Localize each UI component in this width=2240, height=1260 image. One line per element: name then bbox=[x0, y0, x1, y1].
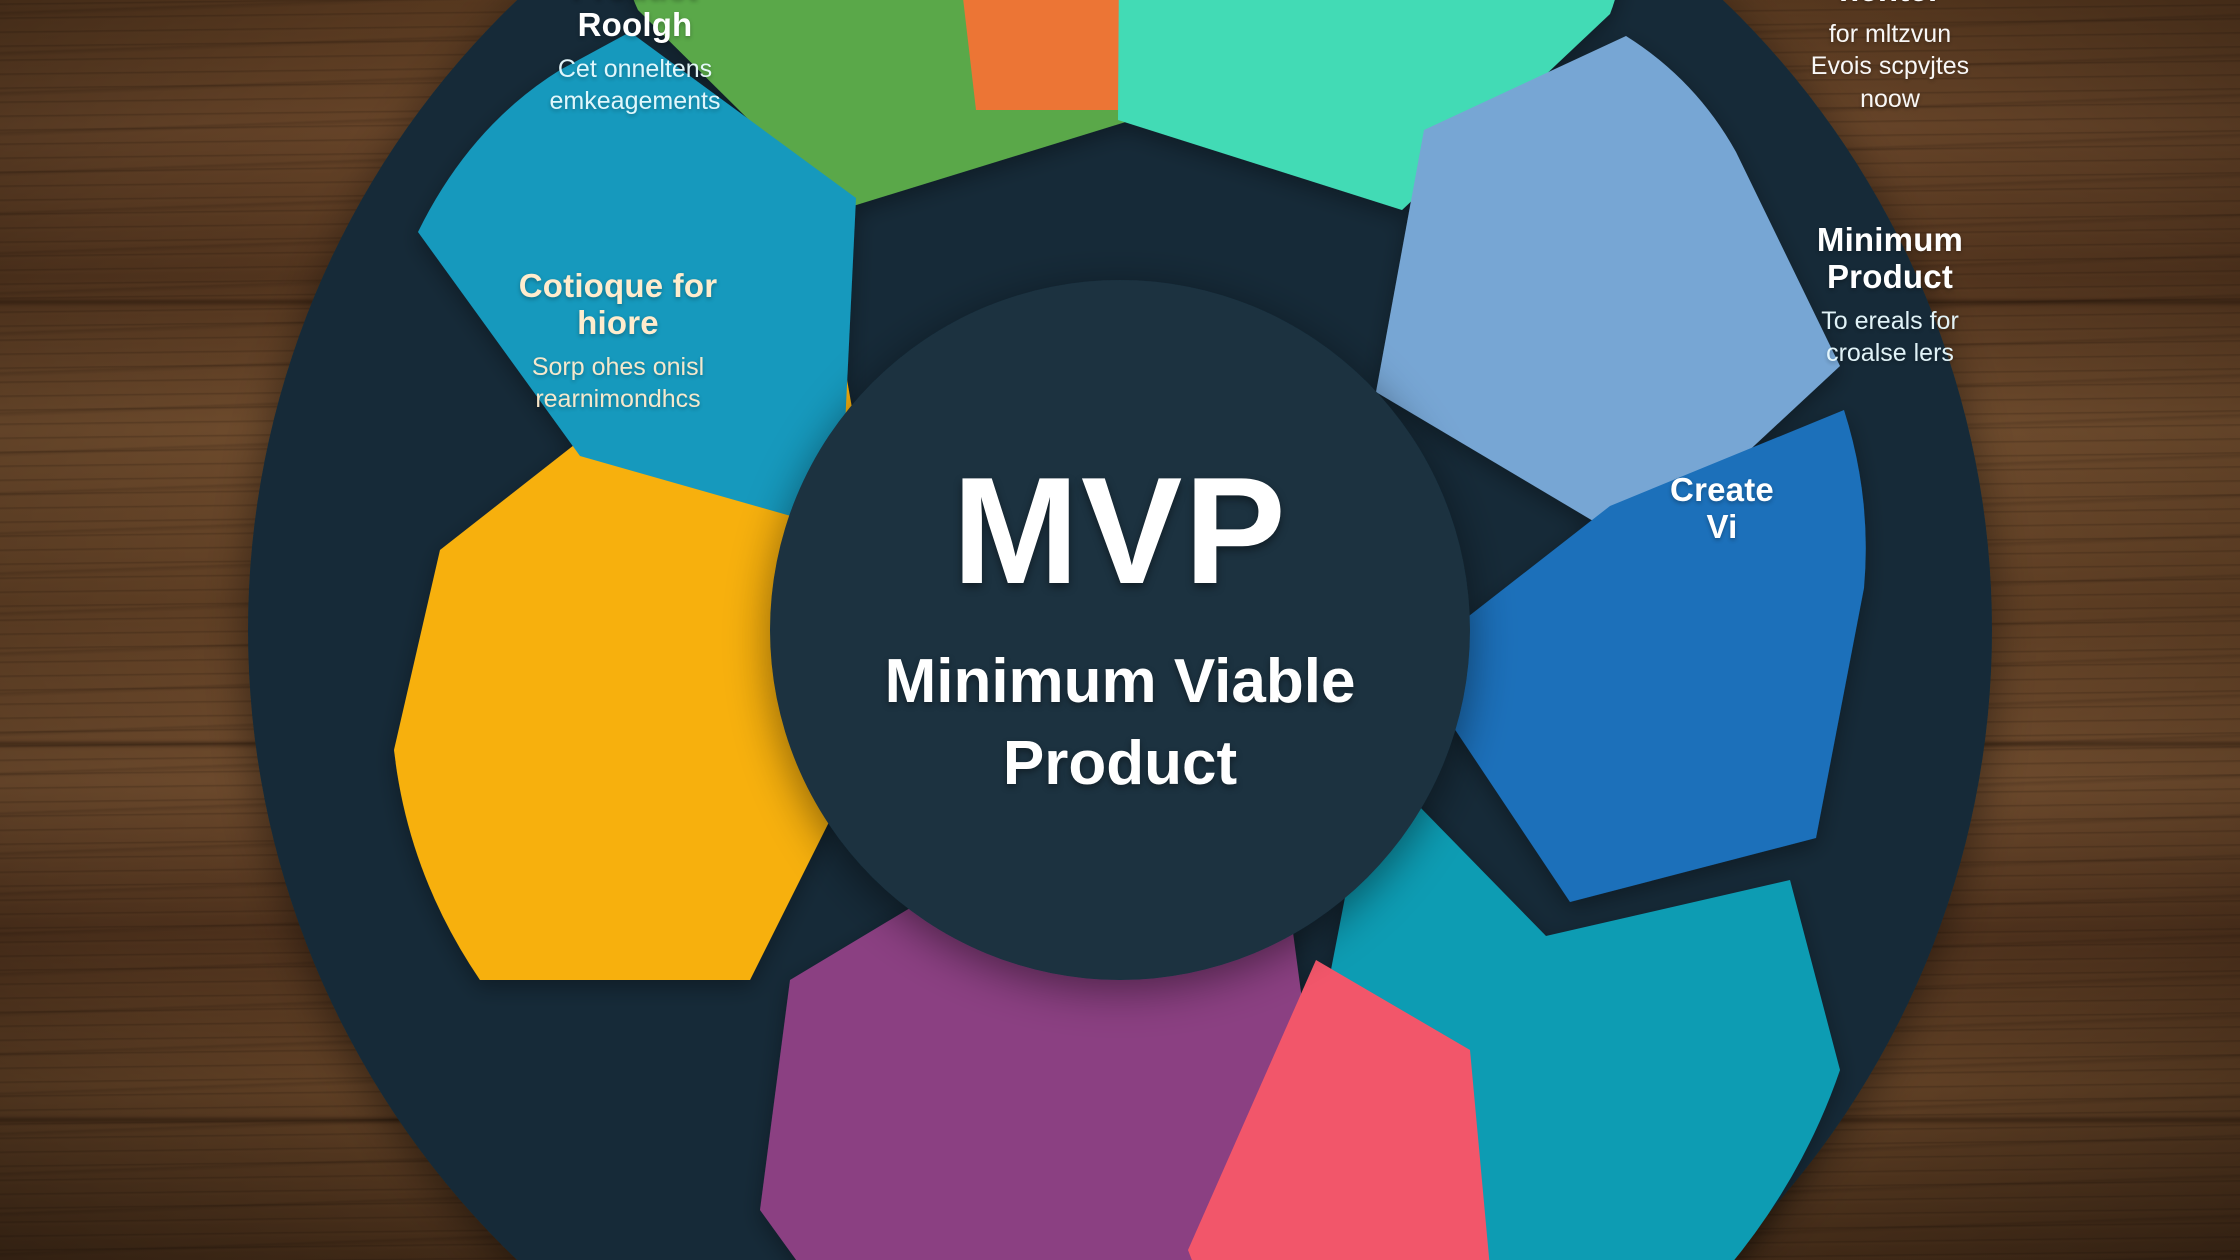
wheel-svg bbox=[140, 0, 2100, 1260]
infographic-canvas: Crecnee Deign Tre lantvers of spction re… bbox=[0, 0, 2240, 1260]
mvp-wheel-diagram: Crecnee Deign Tre lantvers of spction re… bbox=[140, 0, 2100, 1260]
center-hub-circle bbox=[770, 280, 1470, 980]
